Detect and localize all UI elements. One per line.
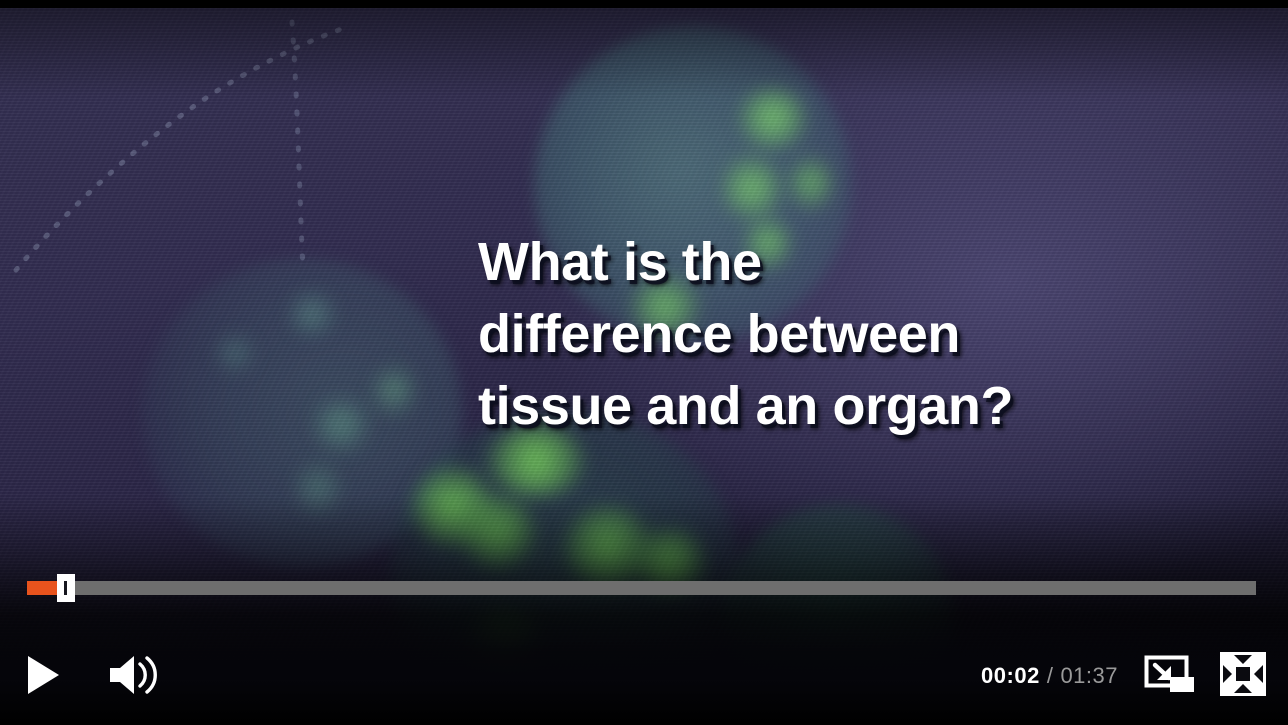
caption-line-2: difference between [478, 298, 1178, 370]
progress-scrubber-handle[interactable] [57, 574, 75, 602]
organelle-blob [790, 156, 832, 210]
fullscreen-button[interactable] [1218, 651, 1268, 697]
duration-time: 01:37 [1060, 663, 1118, 689]
play-triangle-icon [26, 655, 60, 695]
organelle-blob [216, 334, 254, 372]
picture-in-picture-button[interactable] [1142, 651, 1198, 697]
organelle-blob [296, 460, 340, 516]
player-controls-bar: 00:02 / 01:37 [0, 620, 1288, 725]
organelle-blob [314, 398, 368, 452]
progress-bar[interactable] [27, 581, 1256, 595]
fullscreen-expand-icon [1220, 652, 1266, 696]
volume-button[interactable] [104, 651, 164, 699]
letterbox-bar-top [0, 0, 1288, 8]
caption-line-1: What is the [478, 226, 1178, 298]
picture-in-picture-icon [1144, 653, 1196, 695]
speaker-sound-on-icon [109, 654, 159, 696]
organelle-blob [462, 496, 534, 568]
video-caption-text: What is the difference between tissue an… [478, 226, 1178, 442]
progress-track[interactable] [27, 581, 1256, 595]
video-player[interactable]: What is the difference between tissue an… [0, 0, 1288, 725]
organelle-blob [374, 364, 414, 416]
play-button[interactable] [20, 651, 66, 699]
time-separator: / [1047, 663, 1054, 689]
progress-played [27, 581, 59, 595]
organelle-blob [724, 156, 780, 220]
organelle-blob [740, 88, 806, 148]
current-time: 00:02 [981, 663, 1040, 689]
time-display: 00:02 / 01:37 [981, 663, 1118, 689]
dotted-arc-decoration [0, 8, 500, 328]
caption-line-3: tissue and an organ? [478, 370, 1178, 442]
